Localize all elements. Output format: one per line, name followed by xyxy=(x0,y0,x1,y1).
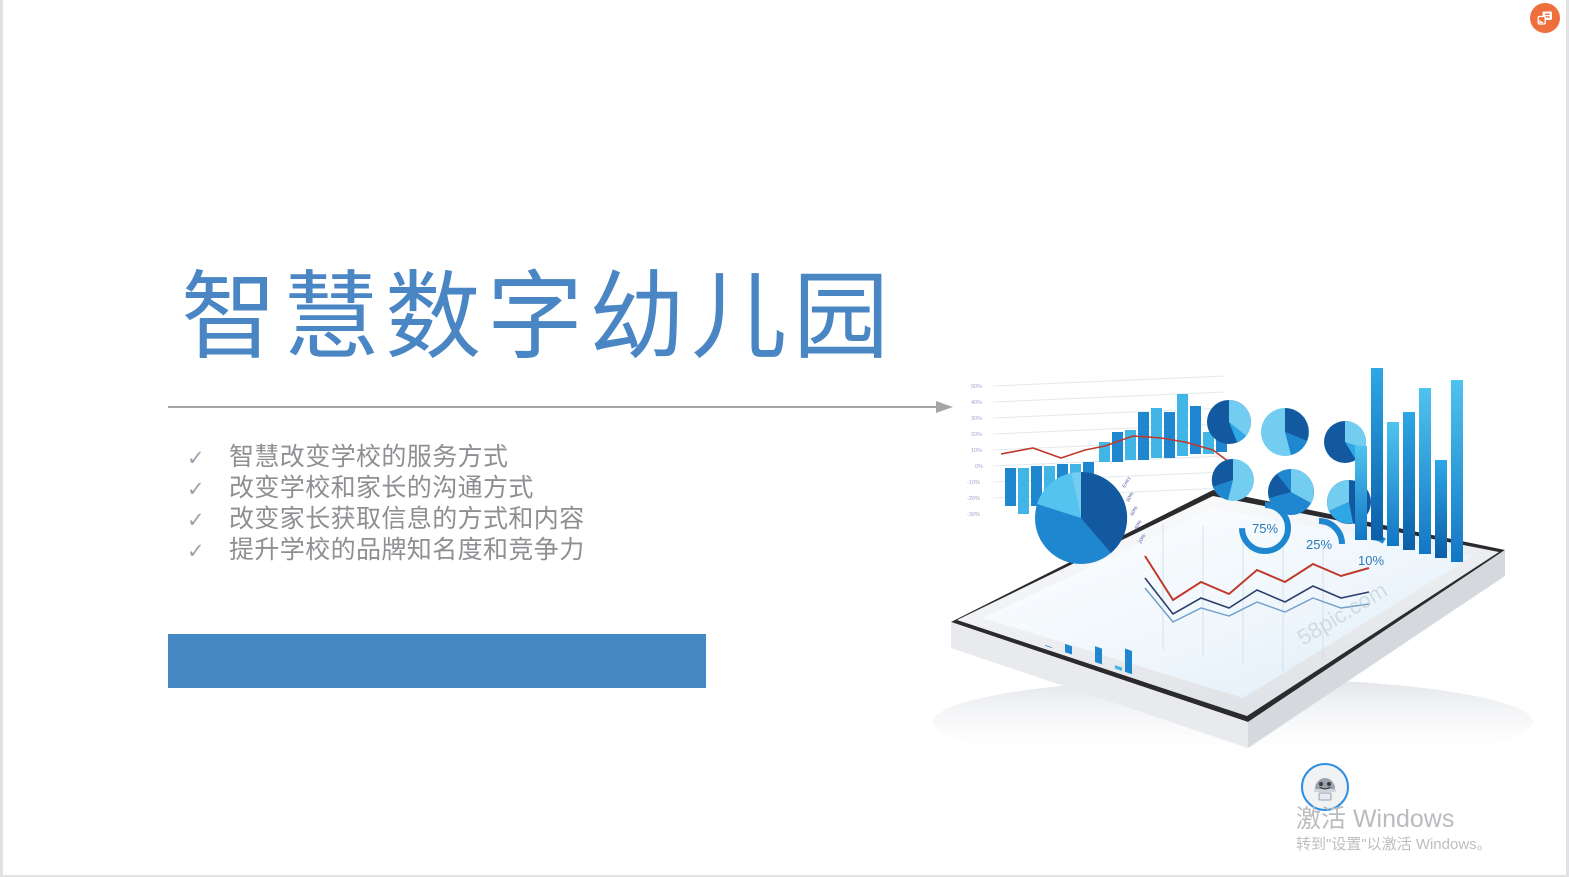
bullet-list: ✓ 智慧改变学校的服务方式 ✓ 改变学校和家长的沟通方式 ✓ 改变家长获取信息的… xyxy=(183,442,703,566)
svg-text:50%: 50% xyxy=(971,384,982,390)
tablet-analytics-graphic: 58pic.com 50% 40% 30% 2 xyxy=(833,350,1569,770)
pie-chart xyxy=(1261,408,1309,456)
chart-tick-labels: 50% 40% 30% 20% 10% 0% -10% -20% -30% xyxy=(967,384,983,518)
kpi-donut-label: 25% xyxy=(1306,537,1332,552)
svg-text:-10%: -10% xyxy=(967,480,980,486)
pie-chart xyxy=(1212,459,1254,501)
windows-activation-subtitle: 转到"设置"以激活 Windows。 xyxy=(1296,835,1566,855)
svg-text:60%: 60% xyxy=(1129,505,1139,517)
svg-text:0%: 0% xyxy=(975,464,983,470)
list-item-label: 智慧改变学校的服务方式 xyxy=(229,442,508,473)
list-item-label: 提升学校的品牌知名度和竞争力 xyxy=(229,535,585,566)
list-item: ✓ 改变家长获取信息的方式和内容 xyxy=(183,504,703,535)
list-item-label: 改变家长获取信息的方式和内容 xyxy=(229,504,585,535)
svg-text:40%: 40% xyxy=(971,400,982,406)
large-pie-chart xyxy=(1035,472,1127,564)
screen-record-icon[interactable] xyxy=(1530,3,1560,33)
robot-icon xyxy=(1308,770,1342,804)
pie-chart xyxy=(1207,400,1251,444)
right-bar-chart xyxy=(1355,368,1463,562)
list-item: ✓ 智慧改变学校的服务方式 xyxy=(183,442,703,473)
svg-text:10%: 10% xyxy=(971,448,982,454)
svg-text:-30%: -30% xyxy=(967,512,980,518)
screen-record-glyph xyxy=(1536,9,1554,27)
tablet-analytics-illustration: 58pic.com 50% 40% 30% 2 xyxy=(833,350,1569,770)
blue-accent-band-label xyxy=(168,634,706,688)
presentation-slide: 智慧数字幼儿园 ✓ 智慧改变学校的服务方式 ✓ 改变学校和家长的沟通方式 ✓ 改… xyxy=(0,0,1569,877)
check-icon: ✓ xyxy=(183,505,229,536)
svg-text:-20%: -20% xyxy=(967,496,980,502)
list-item: ✓ 改变学校和家长的沟通方式 xyxy=(183,473,703,504)
list-item: ✓ 提升学校的品牌知名度和竞争力 xyxy=(183,535,703,566)
check-icon: ✓ xyxy=(183,443,229,474)
windows-activation-watermark: 激活 Windows 转到"设置"以激活 Windows。 xyxy=(1296,804,1566,855)
chart-positive-bars xyxy=(1099,394,1227,462)
svg-text:20%: 20% xyxy=(971,432,982,438)
list-item-label: 改变学校和家长的沟通方式 xyxy=(229,473,534,504)
svg-text:30%: 30% xyxy=(971,416,982,422)
check-icon: ✓ xyxy=(183,536,229,567)
svg-text:Entry: Entry xyxy=(1121,475,1132,489)
kpi-donut-label: 75% xyxy=(1252,521,1278,536)
check-icon: ✓ xyxy=(183,474,229,505)
windows-activation-title: 激活 Windows xyxy=(1296,804,1566,834)
slide-title: 智慧数字幼儿园 xyxy=(181,262,895,374)
kpi-donut-label: 10% xyxy=(1358,553,1384,568)
blue-accent-band xyxy=(168,634,706,688)
